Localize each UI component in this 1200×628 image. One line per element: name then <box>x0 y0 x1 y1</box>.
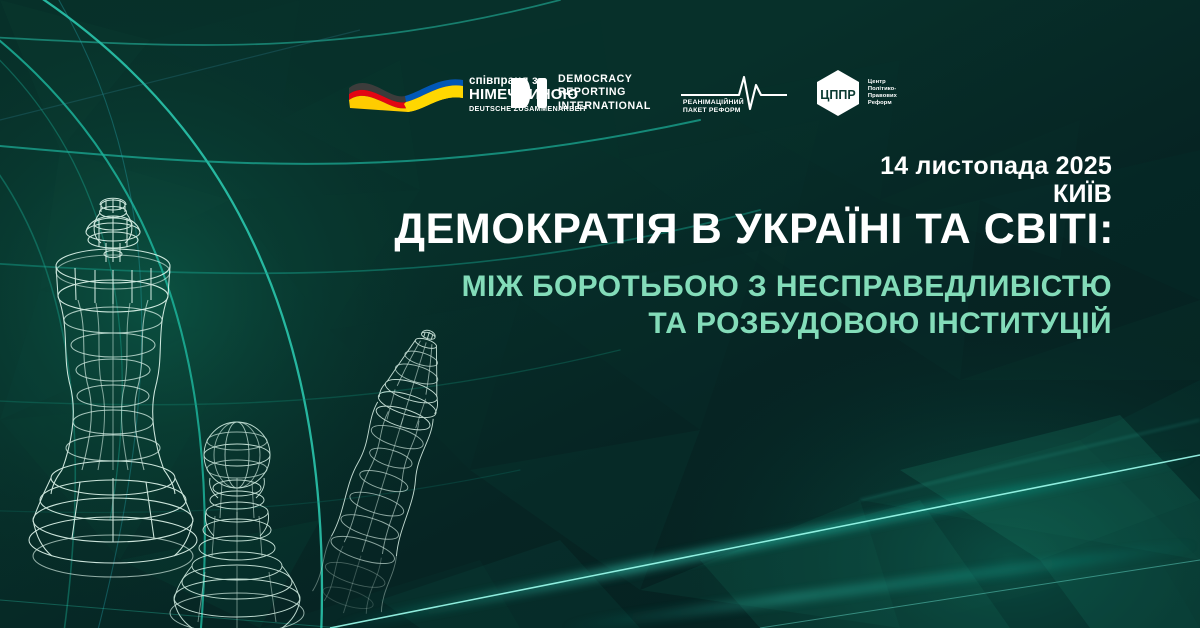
chess-piece-queen <box>29 198 197 577</box>
rpr-line2: ПАКЕТ РЕФОРМ <box>683 107 744 115</box>
cppr-mark-text: ЦППР <box>820 88 855 102</box>
partner-logos: співпраця з НІМЕЧЧИНОЮ DEUTSCHE ZUSAMMEN… <box>345 52 865 134</box>
cppr-hexagon-mark-icon: ЦППР <box>815 69 861 117</box>
event-date: 14 листопада 2025 <box>880 152 1112 180</box>
event-date-block: 14 листопада 2025 КИЇВ <box>880 152 1112 208</box>
event-subtitle-line2: ТА РОЗБУДОВОЮ ІНСТИТУЦІЙ <box>0 305 1112 342</box>
cppr-line1: Центр <box>868 79 897 86</box>
rpr-line1: РЕАНІМАЦІЙНИЙ <box>683 99 744 107</box>
chess-piece-pawn <box>170 422 304 628</box>
germany-ukraine-flag-ribbon-icon <box>347 74 465 112</box>
chess-piece-bishop <box>309 320 464 623</box>
event-title: ДЕМОКРАТІЯ В УКРАЇНІ ТА СВІТІ: <box>0 204 1114 254</box>
giz-tagline-line3: DEUTSCHE ZUSAMMENARBEIT <box>469 104 587 113</box>
reanimation-package-of-reforms-logo: РЕАНІМАЦІЙНИЙ ПАКЕТ РЕФОРМ <box>681 71 787 115</box>
german-cooperation-logo: співпраця з НІМЕЧЧИНОЮ DEUTSCHE ZUSAMMEN… <box>345 73 465 113</box>
event-subtitle-line1: МІЖ БОРОТЬБОЮ З НЕСПРАВЕДЛИВІСТЮ <box>0 268 1112 305</box>
centre-of-policy-and-legal-reform-logo: ЦППР Центр Політико- Правових Реформ <box>815 69 897 117</box>
event-banner: співпраця з НІМЕЧЧИНОЮ DEUTSCHE ZUSAMMEN… <box>0 0 1200 628</box>
giz-tagline-line2: НІМЕЧЧИНОЮ <box>469 87 587 103</box>
cppr-line2: Політико- <box>868 86 897 93</box>
event-subtitle: МІЖ БОРОТЬБОЮ З НЕСПРАВЕДЛИВІСТЮ ТА РОЗБ… <box>0 268 1112 342</box>
cppr-line4: Реформ <box>868 100 897 107</box>
